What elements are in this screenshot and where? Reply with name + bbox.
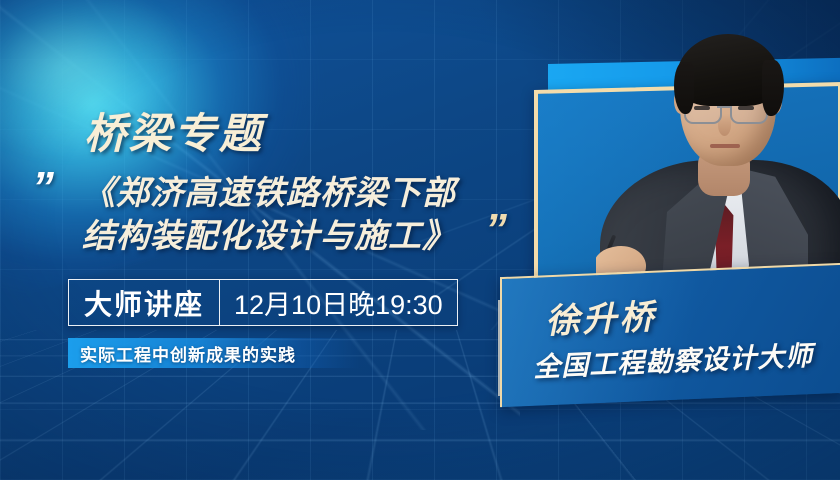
lecture-subtitle-ribbon: 实际工程中创新成果的实践 [68, 338, 360, 368]
lecture-datetime-value: 12月10日晚19:30 [220, 280, 457, 325]
quote-open-icon: ” [32, 166, 52, 210]
lecture-title-line-2: 结构装配化设计与施工》 [82, 215, 492, 258]
lecture-datetime-bar: 大师讲座 12月10日晚19:30 [68, 279, 458, 326]
portrait-eyeglass-bridge [717, 106, 731, 108]
speaker-name-text-group: 徐升桥 全国工程勘察设计大师 [530, 282, 840, 385]
lecture-subtitle-text: 实际工程中创新成果的实践 [68, 341, 296, 366]
webinar-poster: 徐升桥 全国工程勘察设计大师 桥梁专题 ” ” 《郑济高速铁路桥梁下部 结构装配… [0, 0, 840, 480]
portrait-mouth [710, 144, 740, 148]
lecture-type-label: 大师讲座 [69, 280, 220, 325]
portrait-hair-side-left [674, 62, 694, 114]
page-title: 桥梁专题 [84, 100, 264, 161]
lecture-title-line-1: 《郑济高速铁路桥梁下部 [82, 172, 492, 215]
lecture-title: 《郑济高速铁路桥梁下部 结构装配化设计与施工》 [82, 172, 492, 257]
